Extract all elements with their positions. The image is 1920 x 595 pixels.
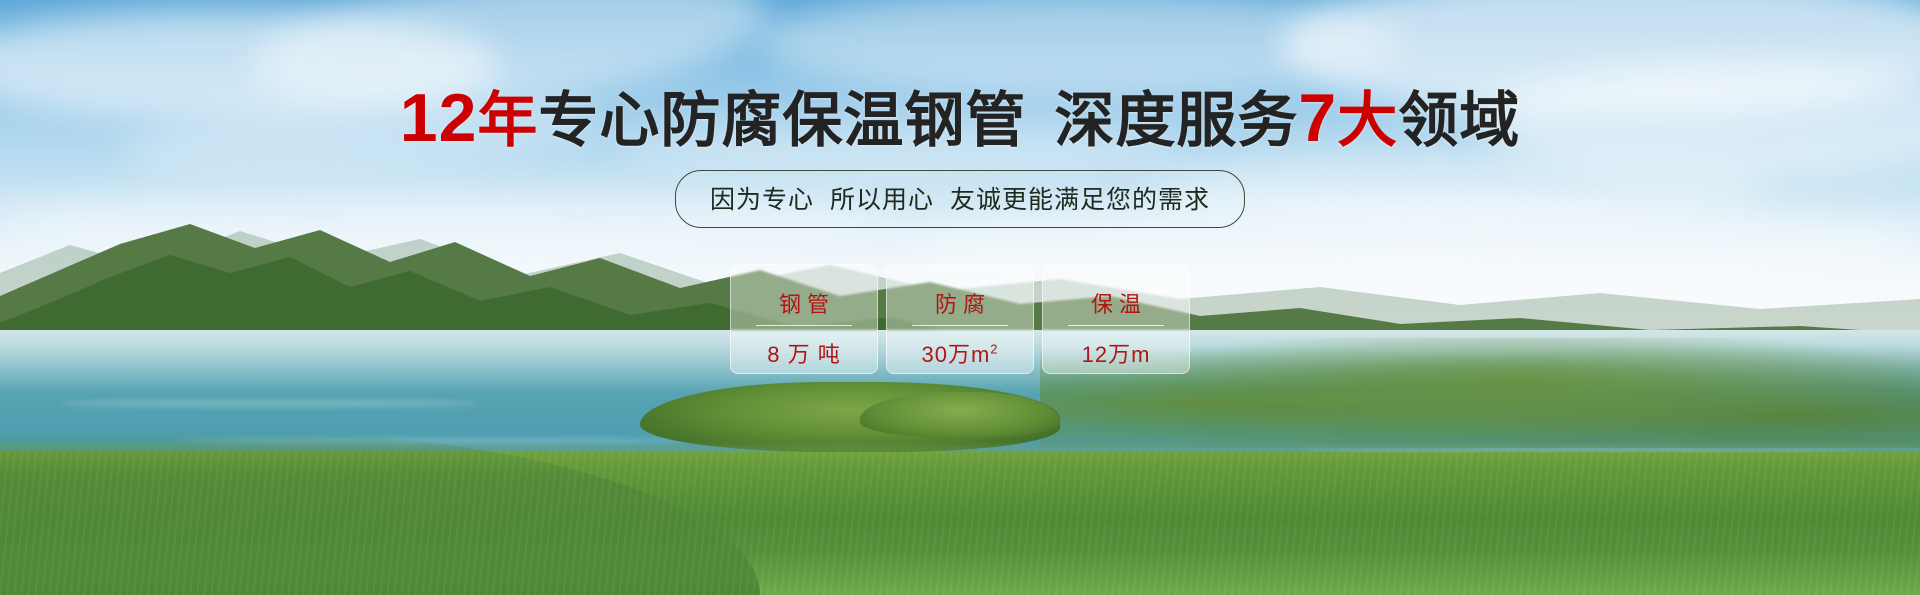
slogan-part-2: 所以用心 [830, 186, 934, 214]
stat-card-steel-pipe[interactable]: 钢管 8 万 吨 [730, 264, 878, 374]
headline-years-unit: 年 [477, 87, 538, 154]
stat-card-divider [912, 325, 1008, 326]
stat-card-insulation[interactable]: 保温 12万m [1042, 264, 1190, 374]
water-ripple [60, 400, 480, 407]
stat-card-value: 8 万 吨 [767, 337, 840, 369]
headline-fields-number: 7 [1298, 80, 1337, 156]
stat-card-group: 钢管 8 万 吨 防腐 30万m2 保温 12万m [730, 264, 1190, 374]
headline-years-number: 12 [400, 80, 478, 156]
headline-main-text: 专心防腐保温钢管 [538, 87, 1026, 154]
stat-card-anticorrosion[interactable]: 防腐 30万m2 [886, 264, 1034, 374]
slogan-pill: 因为专心所以用心友诚更能满足您的需求 [675, 170, 1245, 228]
headline: 12年专心防腐保温钢管深度服务7大领域 [0, 83, 1920, 154]
stat-card-value-superscript: 2 [990, 342, 998, 357]
headline-fields-text: 领域 [1398, 87, 1520, 154]
slogan-part-3: 友诚更能满足您的需求 [950, 186, 1210, 214]
stat-card-label: 防腐 [929, 287, 991, 319]
grass-island [860, 392, 1060, 438]
stat-card-divider [756, 325, 852, 326]
stat-card-label: 保温 [1085, 287, 1147, 319]
stat-card-value-text: 30万m [921, 342, 990, 367]
stat-card-value: 12万m [1082, 337, 1151, 369]
grass-texture [0, 452, 1920, 595]
hero-banner: 12年专心防腐保温钢管深度服务7大领域 因为专心所以用心友诚更能满足您的需求 钢… [0, 0, 1920, 595]
headline-service-text: 深度服务 [1054, 87, 1298, 154]
slogan-part-1: 因为专心 [710, 186, 814, 214]
stat-card-value-text: 8 万 吨 [767, 342, 840, 367]
stat-card-label: 钢管 [773, 287, 835, 319]
headline-fields-unit: 大 [1337, 87, 1398, 154]
stat-card-value-text: 12万m [1082, 342, 1151, 367]
stat-card-divider [1068, 325, 1164, 326]
stat-card-value: 30万m2 [921, 337, 998, 369]
